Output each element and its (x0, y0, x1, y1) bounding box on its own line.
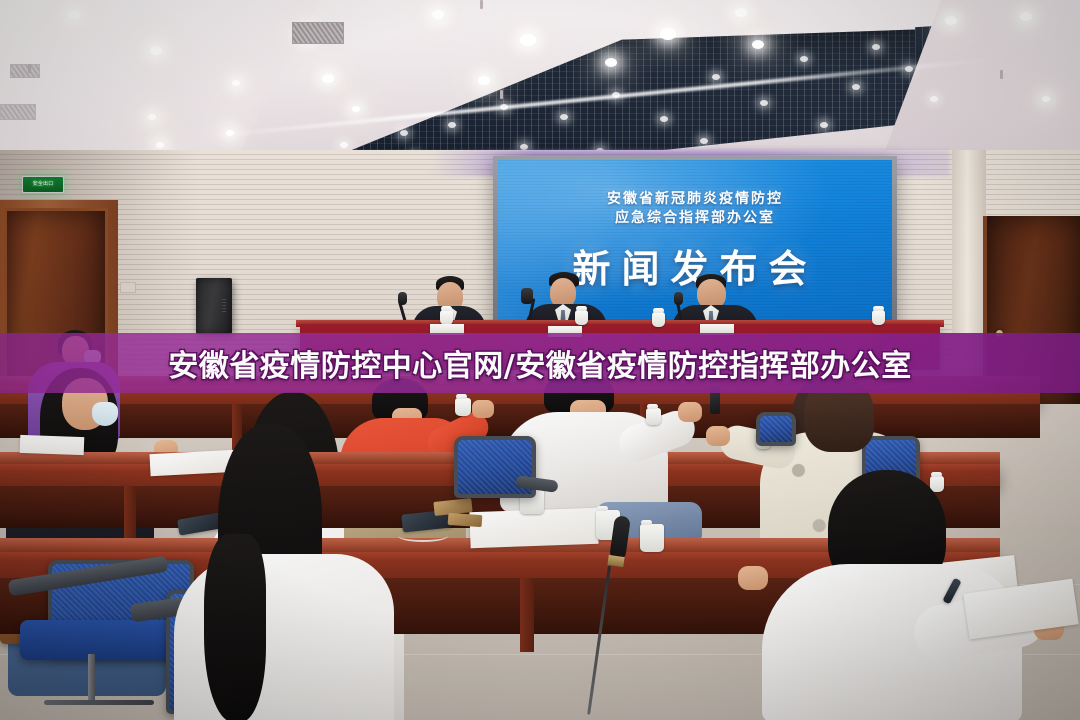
downlight-icon (760, 100, 768, 106)
hand (706, 426, 730, 446)
downlight-icon (560, 114, 568, 120)
downlight-icon (820, 122, 828, 128)
downlight-icon (905, 66, 913, 72)
charging-cable (398, 530, 448, 542)
downlight-icon (500, 104, 508, 110)
downlight-icon (872, 44, 880, 50)
face-mask (92, 402, 118, 426)
downlight-icon (68, 10, 80, 19)
air-vent-icon (10, 64, 40, 78)
exit-sign-label: 安全出口 (33, 182, 54, 187)
downlight-icon (352, 106, 360, 112)
downlight-icon (150, 46, 162, 55)
teacup (872, 310, 885, 325)
downlight-icon (232, 80, 240, 86)
caption-text: 安徽省疫情防控中心官网/安徽省疫情防控指挥部办公室 (0, 333, 1080, 393)
ceiling (0, 0, 1080, 170)
downlight-icon (852, 84, 860, 90)
microphone-head-icon (398, 292, 407, 305)
sprinkler-icon (500, 90, 503, 99)
downlight-icon (478, 76, 490, 85)
teacup (646, 408, 661, 425)
downlight-icon (700, 138, 708, 144)
downlight-icon (605, 58, 617, 67)
microphone-head-icon (521, 288, 533, 304)
paper-sheet (20, 435, 85, 455)
downlight-icon (660, 28, 676, 40)
office-chair-back[interactable] (454, 436, 536, 498)
sprinkler-icon (480, 0, 483, 9)
teacup (575, 310, 588, 325)
downlight-icon (448, 122, 456, 128)
desk-leg (520, 578, 534, 652)
press-conference-photo: 安全出口 安徽省新冠肺炎疫情防控 应急综合指挥部办公室 新闻发布会 (0, 0, 1080, 720)
voice-recorder (448, 513, 483, 527)
desk-leg (124, 486, 136, 542)
downlight-icon (400, 130, 408, 136)
ceiling-soffit-left (0, 0, 320, 175)
air-vent-icon (0, 104, 36, 120)
downlight-icon (930, 96, 938, 102)
downlight-icon (1020, 12, 1032, 21)
hand (738, 566, 768, 590)
downlight-icon (712, 74, 720, 80)
teacup (455, 398, 471, 416)
downlight-icon (1042, 96, 1050, 102)
chair-base (44, 700, 154, 705)
microphone-head-icon (674, 292, 683, 305)
downlight-icon (156, 142, 164, 148)
hand (472, 400, 494, 418)
downlight-icon (752, 40, 764, 49)
downlight-icon (148, 114, 156, 120)
hand (678, 402, 702, 422)
air-vent-icon (292, 22, 344, 44)
downlight-icon (322, 74, 334, 83)
teacup (640, 524, 664, 552)
chair-stem (88, 654, 95, 704)
downlight-icon (945, 16, 957, 25)
teacup (652, 312, 665, 327)
downlight-icon (612, 92, 620, 98)
wall-switch-plate[interactable] (120, 282, 136, 293)
downlight-icon (660, 116, 668, 122)
sprinkler-icon (28, 64, 31, 73)
downlight-icon (520, 34, 536, 46)
downlight-icon (340, 142, 348, 148)
exit-sign: 安全出口 (22, 176, 64, 193)
downlight-icon (432, 10, 444, 19)
chair-seat (20, 620, 180, 660)
downlight-icon (735, 8, 747, 17)
office-chair-back[interactable] (756, 412, 796, 446)
teacup (440, 310, 453, 325)
sprinkler-icon (1000, 70, 1003, 79)
hair-strands (204, 534, 266, 720)
wall-speaker-icon (196, 278, 232, 334)
downlight-icon (226, 130, 234, 136)
downlight-icon (800, 56, 808, 62)
